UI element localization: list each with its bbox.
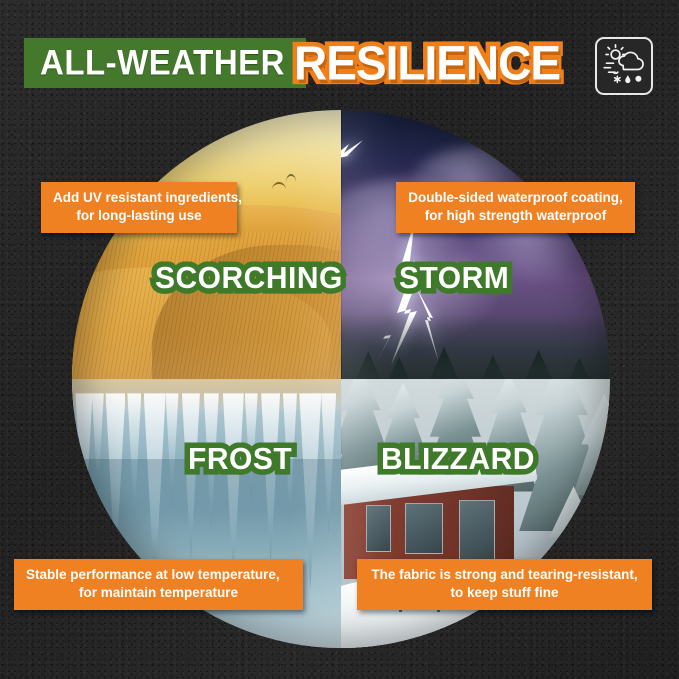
callout-storm-line1: Double-sided waterproof coating,: [408, 189, 623, 207]
quadrant-label-storm: STORM: [399, 262, 509, 297]
sun-cloud-wind-rain-snow-icon: [597, 39, 651, 93]
callout-blizzard: The fabric is strong and tearing-resista…: [357, 559, 652, 610]
callout-storm-line2: for high strength waterproof: [408, 207, 623, 225]
headline-accent-wrap: RESILIENCE: [294, 34, 560, 92]
callout-storm: Double-sided waterproof coating, for hig…: [396, 182, 635, 233]
quadrant-storm-scene: [341, 110, 610, 379]
callout-scorching: Add UV resistant ingredients, for long-l…: [41, 182, 237, 233]
callout-scorching-line2: for long-lasting use: [53, 207, 225, 225]
quadrant-scorching-scene: [72, 110, 341, 379]
callout-scorching-line1: Add UV resistant ingredients,: [53, 189, 225, 207]
headline-primary-text: ALL-WEATHER: [40, 43, 285, 83]
quadrant-label-frost: FROST: [188, 443, 292, 478]
headline-green-bar: ALL-WEATHER: [24, 38, 306, 88]
quadrant-label-scorching: SCORCHING: [155, 262, 343, 297]
callout-frost-line1: Stable performance at low temperature,: [26, 566, 291, 584]
headline-accent-text: RESILIENCE: [294, 35, 560, 91]
callout-frost: Stable performance at low temperature, f…: [14, 559, 303, 610]
callout-blizzard-line2: to keep stuff fine: [369, 584, 640, 602]
callout-frost-line2: for maintain temperature: [26, 584, 291, 602]
quadrant-label-blizzard: BLIZZARD: [381, 443, 535, 478]
weather-badge: [595, 37, 653, 95]
weather-resilience-infographic: ALL-WEATHER RESILIENCE: [0, 0, 679, 679]
callout-blizzard-line1: The fabric is strong and tearing-resista…: [369, 566, 640, 584]
